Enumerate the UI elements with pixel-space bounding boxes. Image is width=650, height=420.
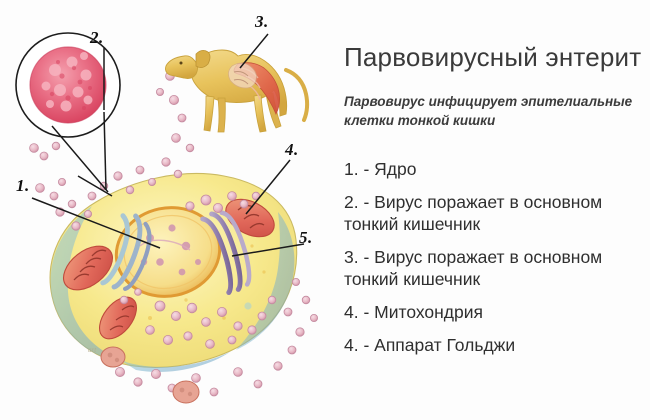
callout-number-1: 1.: [16, 176, 30, 196]
illustration-panel: art: [0, 0, 330, 420]
dog-illustration: [166, 50, 308, 132]
svg-text:art: art: [88, 346, 97, 354]
callout-number-5: 5.: [299, 228, 313, 248]
legend-item-2: 2. - Вирус поражает в основном тонкий ки…: [344, 191, 648, 235]
intestinal-epithelial-cell: [50, 174, 297, 372]
legend-list: 1. - Ядро 2. - Вирус поражает в основном…: [344, 158, 648, 367]
legend-item-3: 3. - Вирус поражает в основном тонкий ки…: [344, 246, 648, 290]
legend-item-4: 4. - Митохондрия: [344, 301, 648, 323]
diagram-canvas: art 1. 2. 3. 4. 5. Парвовирусный энтерит…: [0, 0, 650, 420]
callout-number-4: 4.: [285, 140, 299, 160]
text-panel: Парвовирусный энтерит Парвовирус инфицир…: [336, 0, 650, 420]
legend-item-1: 1. - Ядро: [344, 158, 648, 180]
legend-item-5: 4. - Аппарат Гольджи: [344, 334, 648, 356]
page-title: Парвовирусный энтерит: [344, 42, 641, 73]
callout-number-2: 2.: [90, 28, 104, 48]
page-subtitle: Парвовирус инфицирует эпителиальные клет…: [344, 92, 644, 130]
callout-number-3: 3.: [255, 12, 269, 32]
